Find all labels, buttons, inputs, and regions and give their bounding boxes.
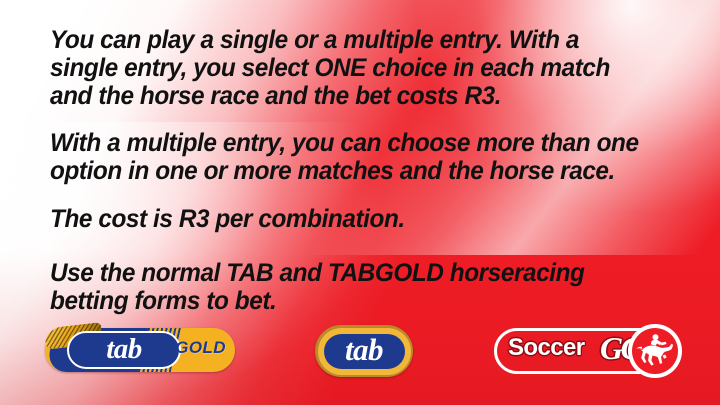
- horse-and-jockey-icon: [634, 332, 676, 370]
- tab-wordmark: tab: [315, 325, 413, 377]
- paragraph-cost: The cost is R3 per combination.: [50, 205, 646, 233]
- tabgold-logo: tab GOLD: [45, 325, 235, 375]
- soccer-gg-wordmark: Soccer: [508, 336, 584, 360]
- soccer-gg-logo: Soccer GG: [494, 324, 682, 378]
- tabgold-tab-wordmark: tab: [69, 333, 179, 367]
- soccer-gg-disc-inner: [632, 328, 678, 374]
- tabgold-gold-wordmark: GOLD: [175, 338, 226, 358]
- body-copy: You can play a single or a multiple entr…: [50, 26, 674, 315]
- soccer-gg-disc: [628, 324, 682, 378]
- promo-slide: You can play a single or a multiple entr…: [0, 0, 720, 405]
- paragraph-multiple-entry: With a multiple entry, you can choose mo…: [50, 129, 646, 185]
- logo-strip: tab GOLD tab Soccer GG: [0, 318, 720, 388]
- tabgold-tab-badge: tab: [67, 331, 181, 369]
- tab-logo: tab: [315, 325, 413, 377]
- paragraph-single-vs-multiple: You can play a single or a multiple entr…: [50, 26, 646, 110]
- paragraph-betting-forms: Use the normal TAB and TABGOLD horseraci…: [50, 259, 646, 315]
